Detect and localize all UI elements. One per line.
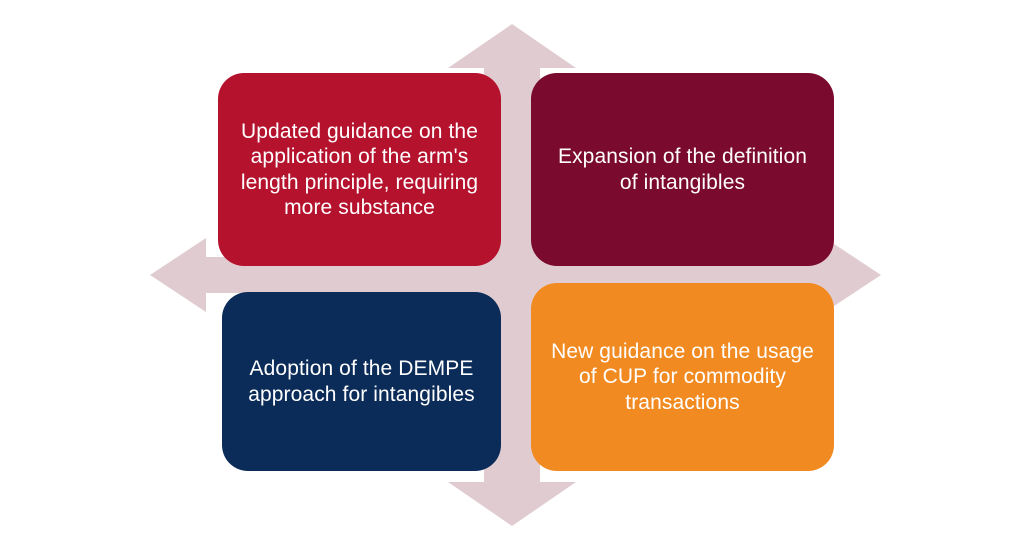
quadrant-card-bottom-right[interactable]: New guidance on the usage of CUP for com… bbox=[531, 283, 834, 471]
quadrant-card-top-left[interactable]: Updated guidance on the application of t… bbox=[218, 73, 501, 266]
quadrant-card-bottom-left-label: Adoption of the DEMPE approach for intan… bbox=[238, 356, 485, 407]
quadrant-card-top-left-label: Updated guidance on the application of t… bbox=[234, 119, 485, 221]
quadrant-card-bottom-left[interactable]: Adoption of the DEMPE approach for intan… bbox=[222, 292, 501, 471]
quadrant-card-top-right-label: Expansion of the definition of intangibl… bbox=[547, 144, 818, 195]
four-way-arrow-background bbox=[0, 0, 1035, 550]
diagram-canvas: Updated guidance on the application of t… bbox=[0, 0, 1035, 550]
quadrant-card-top-right[interactable]: Expansion of the definition of intangibl… bbox=[531, 73, 834, 266]
quadrant-card-bottom-right-label: New guidance on the usage of CUP for com… bbox=[547, 339, 818, 416]
